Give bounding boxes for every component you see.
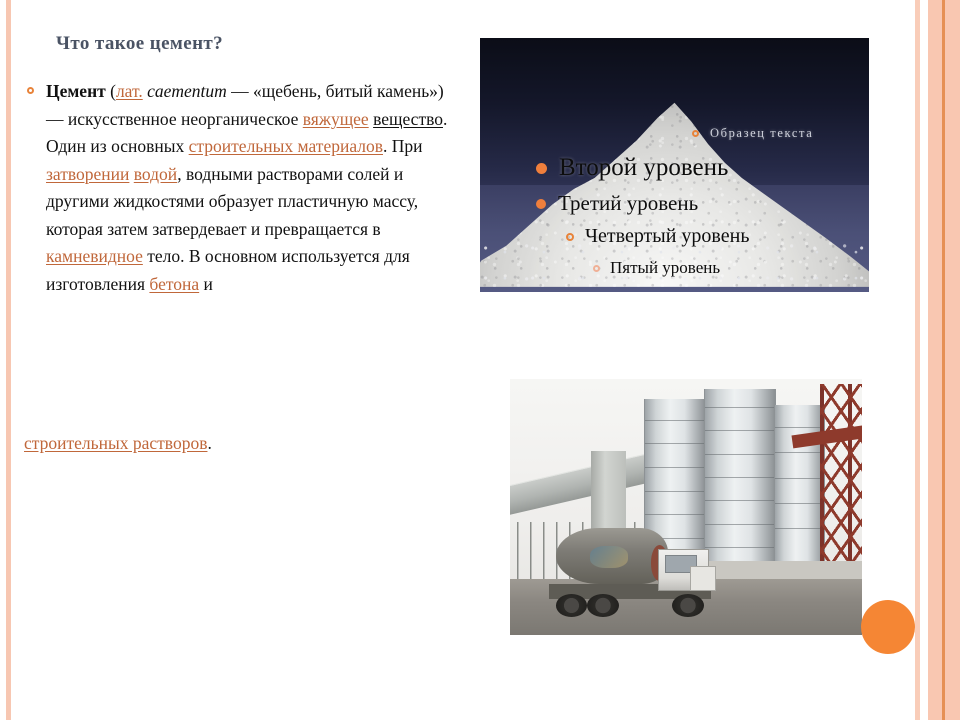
- body-text-block: Цемент (лат. caementum — «щебень, битый …: [24, 78, 450, 298]
- placeholder-level-3-label: Третий уровень: [558, 191, 698, 216]
- right-border-stripe-1: [915, 0, 920, 720]
- right-border-stripe-3: [945, 0, 960, 720]
- orange-accent-circle: [861, 600, 915, 654]
- placeholder-level-2-label: Второй уровень: [559, 154, 728, 182]
- placeholder-level-5-label: Пятый уровень: [610, 258, 720, 278]
- truck-hood: [690, 566, 717, 591]
- tail-period: .: [207, 433, 211, 453]
- placeholder-level-4[interactable]: Четвертый уровень: [566, 225, 749, 248]
- right-border-stripe-2: [928, 0, 942, 720]
- body-text-run: Цемент: [46, 81, 106, 101]
- presentation-slide: Что такое цемент? Цемент (лат. caementum…: [0, 0, 960, 720]
- placeholder-level-3[interactable]: Третий уровень: [536, 191, 698, 216]
- body-link[interactable]: затворении: [46, 164, 129, 184]
- cement-powder-photo: Образец текста Второй уровень Третий уро…: [480, 38, 869, 292]
- slide-title: Что такое цемент?: [56, 33, 456, 55]
- body-link[interactable]: вещество: [373, 109, 443, 129]
- body-link[interactable]: лат.: [116, 81, 143, 101]
- hollow-circle-bullet-icon: [27, 87, 34, 94]
- body-link[interactable]: бетона: [149, 274, 199, 294]
- body-link[interactable]: строительных материалов: [189, 136, 383, 156]
- silo-b: [704, 389, 776, 568]
- hollow-circle-bullet-icon: [692, 130, 699, 137]
- placeholder-level-1-label: Образец текста: [710, 126, 813, 141]
- filled-circle-bullet-icon: [536, 199, 546, 209]
- red-steel-tower: [820, 384, 862, 579]
- filled-circle-bullet-icon: [536, 163, 547, 174]
- concrete-plant-photo: [510, 379, 862, 635]
- hollow-circle-bullet-icon: [566, 233, 574, 241]
- body-link[interactable]: водой: [134, 164, 177, 184]
- bullet-list-item: Цемент (лат. caementum — «щебень, битый …: [24, 78, 450, 298]
- link-stroitelnyh-rastvorov[interactable]: строительных растворов: [24, 433, 207, 453]
- left-border-stripe: [6, 0, 11, 720]
- body-text-run: . При: [383, 136, 423, 156]
- body-text-run: (: [106, 81, 116, 101]
- body-text-run: и: [199, 274, 213, 294]
- placeholder-level-5[interactable]: Пятый уровень: [593, 258, 720, 278]
- body-paragraph: Цемент (лат. caementum — «щебень, битый …: [46, 78, 450, 298]
- placeholder-level-4-label: Четвертый уровень: [585, 225, 749, 248]
- truck-wheel: [587, 594, 619, 617]
- silo-c: [774, 405, 825, 564]
- body-link[interactable]: вяжущее: [303, 109, 369, 129]
- body-paragraph-tail: строительных растворов.: [24, 430, 454, 458]
- placeholder-level-2[interactable]: Второй уровень: [536, 154, 728, 182]
- hollow-circle-bullet-icon: [593, 265, 600, 272]
- placeholder-level-1[interactable]: Образец текста: [692, 126, 813, 141]
- placeholder-levels-overlay: Образец текста Второй уровень Третий уро…: [480, 38, 869, 292]
- body-link[interactable]: камневидное: [46, 246, 143, 266]
- body-text-run: caementum: [147, 81, 227, 101]
- truck-wheel: [672, 594, 704, 617]
